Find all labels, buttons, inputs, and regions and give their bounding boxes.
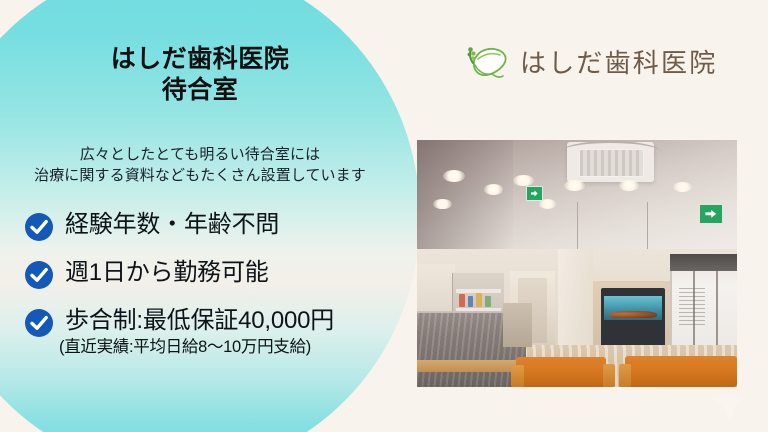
list-item-label: 週1日から勤務可能 bbox=[65, 258, 400, 288]
photo-downlight bbox=[619, 180, 640, 191]
photo-waiting-bench bbox=[625, 356, 737, 387]
photo-exit-sign bbox=[526, 186, 543, 202]
check-circle-icon bbox=[24, 260, 54, 290]
subcopy: 広々としたとても明るい待合室には 治療に関する資料などもたくさん設置しています bbox=[0, 144, 400, 186]
waiting-room-photo-content bbox=[417, 140, 737, 387]
photo-pendant-cord bbox=[647, 202, 648, 254]
photo-downlight bbox=[564, 180, 585, 191]
photo-aquarium-glass bbox=[604, 296, 663, 320]
left-content-column: はしだ歯科医院 待合室 広々としたとても明るい待合室には 治療に関する資料なども… bbox=[0, 0, 400, 432]
page-title-line1: はしだ歯科医院 bbox=[111, 45, 290, 73]
photo-bench-armrest bbox=[603, 364, 616, 387]
photo-bench-armrest bbox=[619, 364, 632, 387]
photo-exit-sign bbox=[699, 204, 723, 223]
subcopy-line2: 治療に関する資料などもたくさん設置しています bbox=[0, 165, 400, 186]
photo-window-header bbox=[670, 254, 737, 271]
list-item: 歩合制:最低保証40,000円 (直近実績:平均日給8〜10万円支給) bbox=[24, 306, 400, 358]
list-item-label: 経験年数・年齢不問 bbox=[65, 210, 400, 240]
photo-window-notices bbox=[679, 288, 705, 328]
clinic-logo: はしだ歯科医院 bbox=[462, 41, 717, 85]
photo-wall-pillar bbox=[558, 249, 593, 348]
subcopy-line1: 広々としたとても明るい待合室には bbox=[80, 146, 320, 163]
list-item-label: 歩合制:最低保証40,000円 bbox=[65, 306, 400, 336]
photo-shelf-item bbox=[459, 294, 465, 306]
list-item: 週1日から勤務可能 bbox=[24, 258, 400, 290]
photo-shelf-item bbox=[476, 293, 482, 306]
photo-pendant-cord bbox=[577, 202, 578, 251]
photo-secondary-counter bbox=[503, 303, 532, 347]
check-circle-icon bbox=[24, 308, 54, 338]
list-item-body: 週1日から勤務可能 bbox=[65, 258, 400, 288]
clinic-logo-text: はしだ歯科医院 bbox=[520, 48, 717, 78]
photo-downlight bbox=[484, 184, 503, 194]
photo-counter-base-trim bbox=[417, 360, 526, 372]
photo-downlight bbox=[443, 170, 465, 182]
leaf-tooth-logo-icon bbox=[462, 41, 514, 85]
photo-aquarium bbox=[601, 288, 665, 347]
photo-aquarium-rock bbox=[609, 311, 656, 319]
list-item-body: 歩合制:最低保証40,000円 (直近実績:平均日給8〜10万円支給) bbox=[65, 306, 400, 358]
photo-waiting-bench bbox=[516, 357, 606, 387]
waiting-room-photo bbox=[417, 140, 737, 387]
photo-ceiling-shadow bbox=[417, 140, 513, 254]
list-item: 経験年数・年齢不問 bbox=[24, 210, 400, 242]
page-title-line2: 待合室 bbox=[0, 75, 400, 106]
list-item-subtext: (直近実績:平均日給8〜10万円支給) bbox=[59, 337, 400, 358]
photo-bench-armrest bbox=[511, 365, 524, 387]
benefits-list: 経験年数・年齢不問 週1日から勤務可能 bbox=[24, 210, 400, 358]
list-item-body: 経験年数・年齢不問 bbox=[65, 210, 400, 240]
page-title: はしだ歯科医院 待合室 bbox=[0, 44, 400, 106]
photo-downlight bbox=[513, 175, 534, 186]
photo-shelf-item bbox=[468, 296, 474, 307]
check-circle-icon bbox=[24, 212, 54, 242]
corner-watermark-icon bbox=[708, 392, 750, 424]
slide-root: はしだ歯科医院 待合室 広々としたとても明るい待合室には 治療に関する資料なども… bbox=[0, 0, 768, 432]
photo-shelf-item bbox=[485, 296, 491, 306]
